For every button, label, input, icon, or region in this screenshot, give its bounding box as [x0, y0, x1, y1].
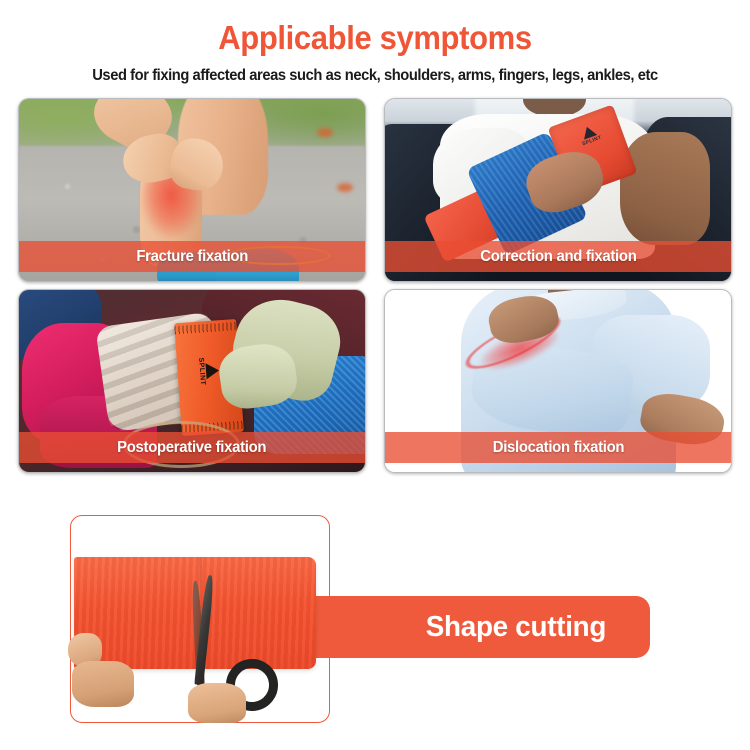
card-caption-bar: Correction and fixation	[385, 241, 731, 272]
card-caption-bar: Fracture fixation	[19, 241, 365, 272]
symptom-card-grid: Fracture fixation SPLINT	[18, 98, 732, 473]
header: Applicable symptoms Used for fixing affe…	[0, 0, 750, 86]
page-subtitle: Used for fixing affected areas such as n…	[19, 66, 732, 86]
shape-cutting-banner: Shape cutting	[210, 596, 650, 658]
symptom-card-dislocation[interactable]: Dislocation fixation	[384, 289, 732, 473]
symptom-card-postoperative[interactable]: SPLINT Postoperative fixation	[18, 289, 366, 473]
card-caption-label: Postoperative fixation	[117, 439, 266, 457]
infographic-page: Applicable symptoms Used for fixing affe…	[0, 0, 750, 750]
card-caption-label: Fracture fixation	[136, 248, 248, 266]
page-title: Applicable symptoms	[23, 18, 728, 58]
card-caption-label: Correction and fixation	[480, 248, 636, 266]
shape-cutting-label: Shape cutting	[426, 611, 606, 644]
shape-cutting-section: Shape cutting	[0, 508, 750, 750]
card-caption-bar: Dislocation fixation	[385, 432, 731, 463]
card-caption-label: Dislocation fixation	[492, 439, 623, 457]
splint-brand-label: SPLINT	[197, 357, 206, 385]
card-caption-bar: Postoperative fixation	[19, 432, 365, 463]
symptom-card-correction[interactable]: SPLINT Correction and fixation	[384, 98, 732, 282]
symptom-card-fracture[interactable]: Fracture fixation	[18, 98, 366, 282]
splint-brand-logo-icon: SPLINT	[197, 356, 220, 385]
